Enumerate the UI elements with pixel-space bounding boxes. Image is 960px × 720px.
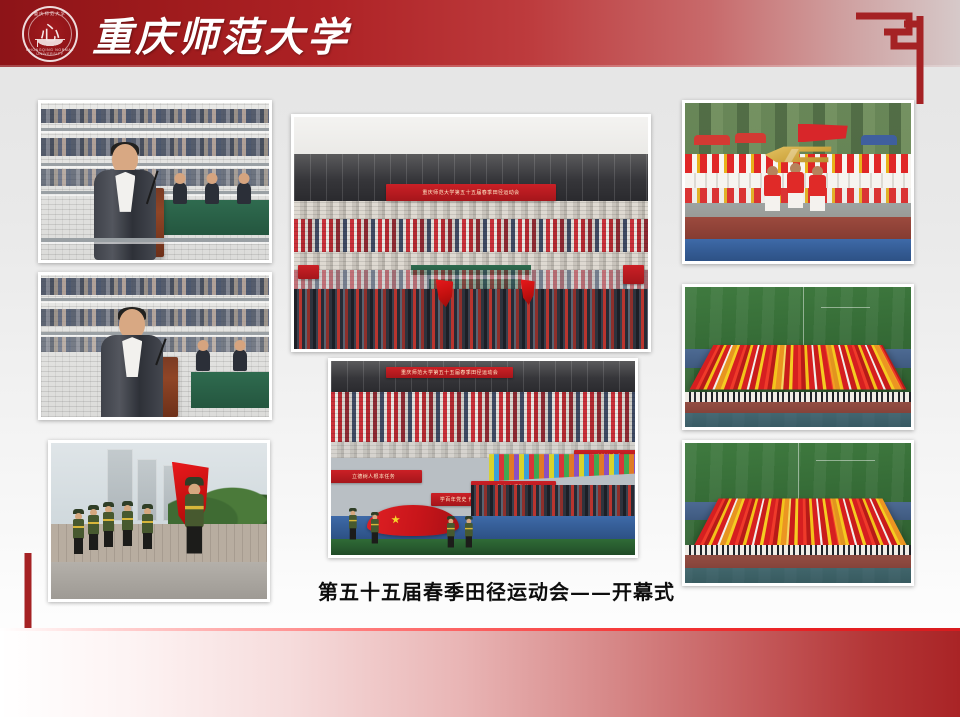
meander-corner-ornament-top-right-icon (854, 8, 936, 113)
emblem-book-shape (35, 39, 65, 47)
honor-guard-flag-march-photo[interactable] (48, 440, 270, 602)
ceremony-banner-text: 重庆师范大学第五十五届春季田径运动会 (386, 367, 514, 379)
ceremony-field-flag-photo[interactable]: 重庆师范大学第五十五届春季田径运动会 立德树人根本任务 运动健儿争先 学百年党史… (328, 358, 638, 558)
aerial-card-stunt-formation-photo-2[interactable] (682, 440, 914, 586)
header-banner: 重庆师范大学 心 CHONGQING NORMAL UNIVERSITY 重庆师… (0, 0, 960, 67)
slogan-left: 立德树人根本任务 (331, 470, 422, 484)
slide-caption: 第五十五届春季田径运动会——开幕式 (318, 576, 658, 605)
emblem-cn-text: 重庆师范大学 (24, 12, 76, 16)
slide-canvas: 重庆师范大学 心 CHONGQING NORMAL UNIVERSITY 重庆师… (0, 0, 960, 720)
emblem-en-text: CHONGQING NORMAL UNIVERSITY (24, 49, 76, 56)
leader-speech-podium-photo-2[interactable] (38, 272, 272, 420)
university-name-title: 重庆师范大学 (92, 3, 350, 65)
stadium-banner-text: 重庆师范大学第五十五届春季田径运动会 (386, 184, 556, 200)
party-emblem-performance-photo[interactable] (682, 100, 914, 264)
stadium-opening-wide-photo[interactable]: 重庆师范大学第五十五届春季田径运动会 (291, 114, 651, 352)
aerial-card-stunt-formation-photo[interactable] (682, 284, 914, 430)
leader-speech-podium-photo[interactable] (38, 100, 272, 263)
bottom-gradient-band (0, 628, 960, 720)
university-emblem-icon: 重庆师范大学 心 CHONGQING NORMAL UNIVERSITY (22, 6, 78, 62)
